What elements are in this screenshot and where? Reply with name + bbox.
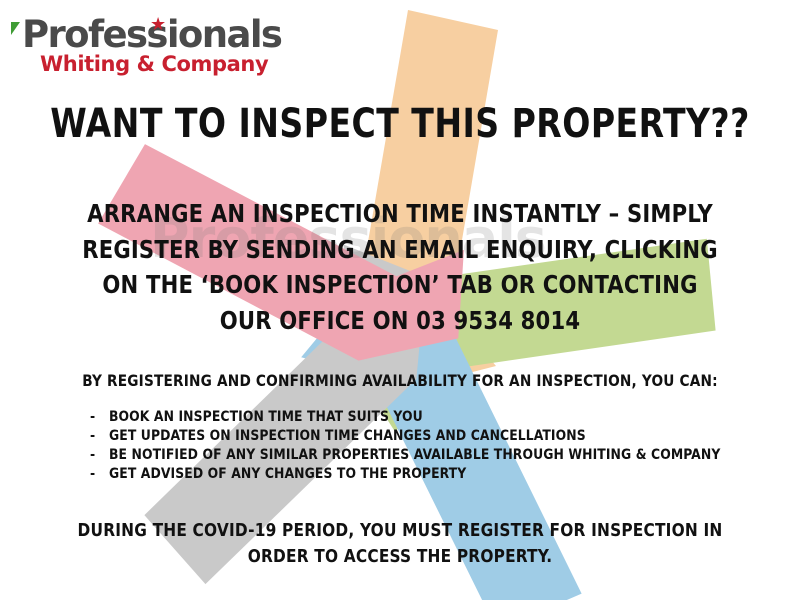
covid-notice: DURING THE COVID-19 PERIOD, YOU MUST REG… bbox=[77, 518, 723, 570]
bullet-dash: - bbox=[90, 408, 109, 427]
benefits-list: -BOOK AN INSPECTION TIME THAT SUITS YOU … bbox=[90, 408, 750, 484]
list-item-label: BOOK AN INSPECTION TIME THAT SUITS YOU bbox=[109, 409, 423, 425]
list-item: -BOOK AN INSPECTION TIME THAT SUITS YOU bbox=[90, 408, 717, 427]
list-item-label: GET ADVISED OF ANY CHANGES TO THE PROPER… bbox=[109, 466, 466, 482]
bullet-dash: - bbox=[90, 446, 109, 465]
logo-office-text: Whiting & Company bbox=[40, 54, 281, 75]
professionals-logo: Professionals ★ Whiting & Company bbox=[22, 16, 281, 75]
page-title: WANT TO INSPECT THIS PROPERTY?? bbox=[32, 104, 768, 144]
list-item: -BE NOTIFIED OF ANY SIMILAR PROPERTIES A… bbox=[90, 446, 717, 465]
list-item-label: BE NOTIFIED OF ANY SIMILAR PROPERTIES AV… bbox=[109, 447, 720, 463]
star-icon: ★ bbox=[150, 15, 166, 33]
list-item-label: GET UPDATES ON INSPECTION TIME CHANGES A… bbox=[109, 428, 586, 444]
leaf-flag-icon bbox=[11, 22, 20, 35]
poster-content: WANT TO INSPECT THIS PROPERTY?? ARRANGE … bbox=[0, 0, 800, 600]
list-item: -GET ADVISED OF ANY CHANGES TO THE PROPE… bbox=[90, 465, 717, 484]
bullet-dash: - bbox=[90, 427, 109, 446]
inspection-poster: Professionals Professionals ★ Whiting & … bbox=[0, 0, 800, 600]
lead-paragraph: ARRANGE AN INSPECTION TIME INSTANTLY – S… bbox=[80, 196, 719, 338]
list-item: -GET UPDATES ON INSPECTION TIME CHANGES … bbox=[90, 427, 717, 446]
benefits-intro-text: BY REGISTERING AND CONFIRMING AVAILABILI… bbox=[68, 371, 733, 390]
logo-brand-row: Professionals ★ bbox=[22, 16, 281, 53]
bullet-dash: - bbox=[90, 465, 109, 484]
